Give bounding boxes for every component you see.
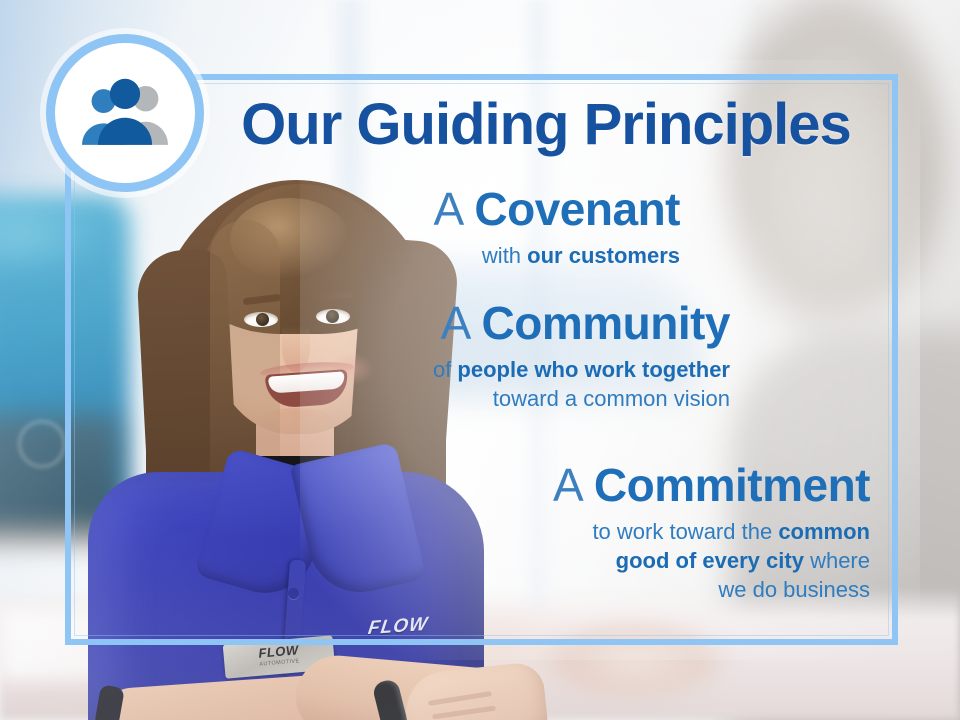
principle-community-word: Community: [482, 297, 731, 349]
subtext-line: good of every city where: [320, 546, 870, 575]
page-title: Our Guiding Principles: [212, 96, 880, 154]
principle-covenant-article: A: [433, 183, 461, 235]
subtext-emphasis: good of every city: [616, 548, 804, 573]
principle-covenant-heading: A Covenant: [240, 186, 680, 233]
subtext-emphasis: common: [778, 519, 870, 544]
guiding-principles-graphic: FLOW FLOW AUTOMOTIVE: [0, 0, 960, 720]
principle-covenant-subtext: with our customers: [240, 241, 680, 270]
subtext-line: we do business: [320, 575, 870, 604]
principle-covenant-word: Covenant: [474, 183, 680, 235]
subtext-line: with our customers: [240, 241, 680, 270]
subtext-line: to work toward the common: [320, 517, 870, 546]
principle-commitment-subtext: to work toward the commongood of every c…: [320, 517, 870, 604]
principle-community: A Community of people who work togethert…: [280, 300, 730, 413]
subtext-run: of: [433, 357, 457, 382]
principle-community-article: A: [441, 297, 469, 349]
subtext-run: we do business: [718, 577, 870, 602]
principle-covenant: A Covenant with our customers: [240, 186, 680, 270]
subtext-emphasis: our customers: [527, 243, 680, 268]
principle-commitment-heading: A Commitment: [320, 462, 870, 509]
subtext-emphasis: people who work together: [457, 357, 730, 382]
subtext-line: toward a common vision: [280, 384, 730, 413]
principle-community-subtext: of people who work togethertoward a comm…: [280, 355, 730, 413]
people-badge: [46, 34, 204, 192]
subtext-run: with: [482, 243, 527, 268]
principle-commitment-word: Commitment: [594, 459, 870, 511]
people-group-icon: [77, 78, 173, 148]
principle-community-heading: A Community: [280, 300, 730, 347]
principle-commitment: A Commitment to work toward the commongo…: [320, 462, 870, 604]
principle-commitment-article: A: [553, 459, 581, 511]
subtext-run: where: [804, 548, 870, 573]
subtext-run: toward a common vision: [493, 386, 730, 411]
subtext-line: of people who work together: [280, 355, 730, 384]
subtext-run: to work toward the: [592, 519, 778, 544]
